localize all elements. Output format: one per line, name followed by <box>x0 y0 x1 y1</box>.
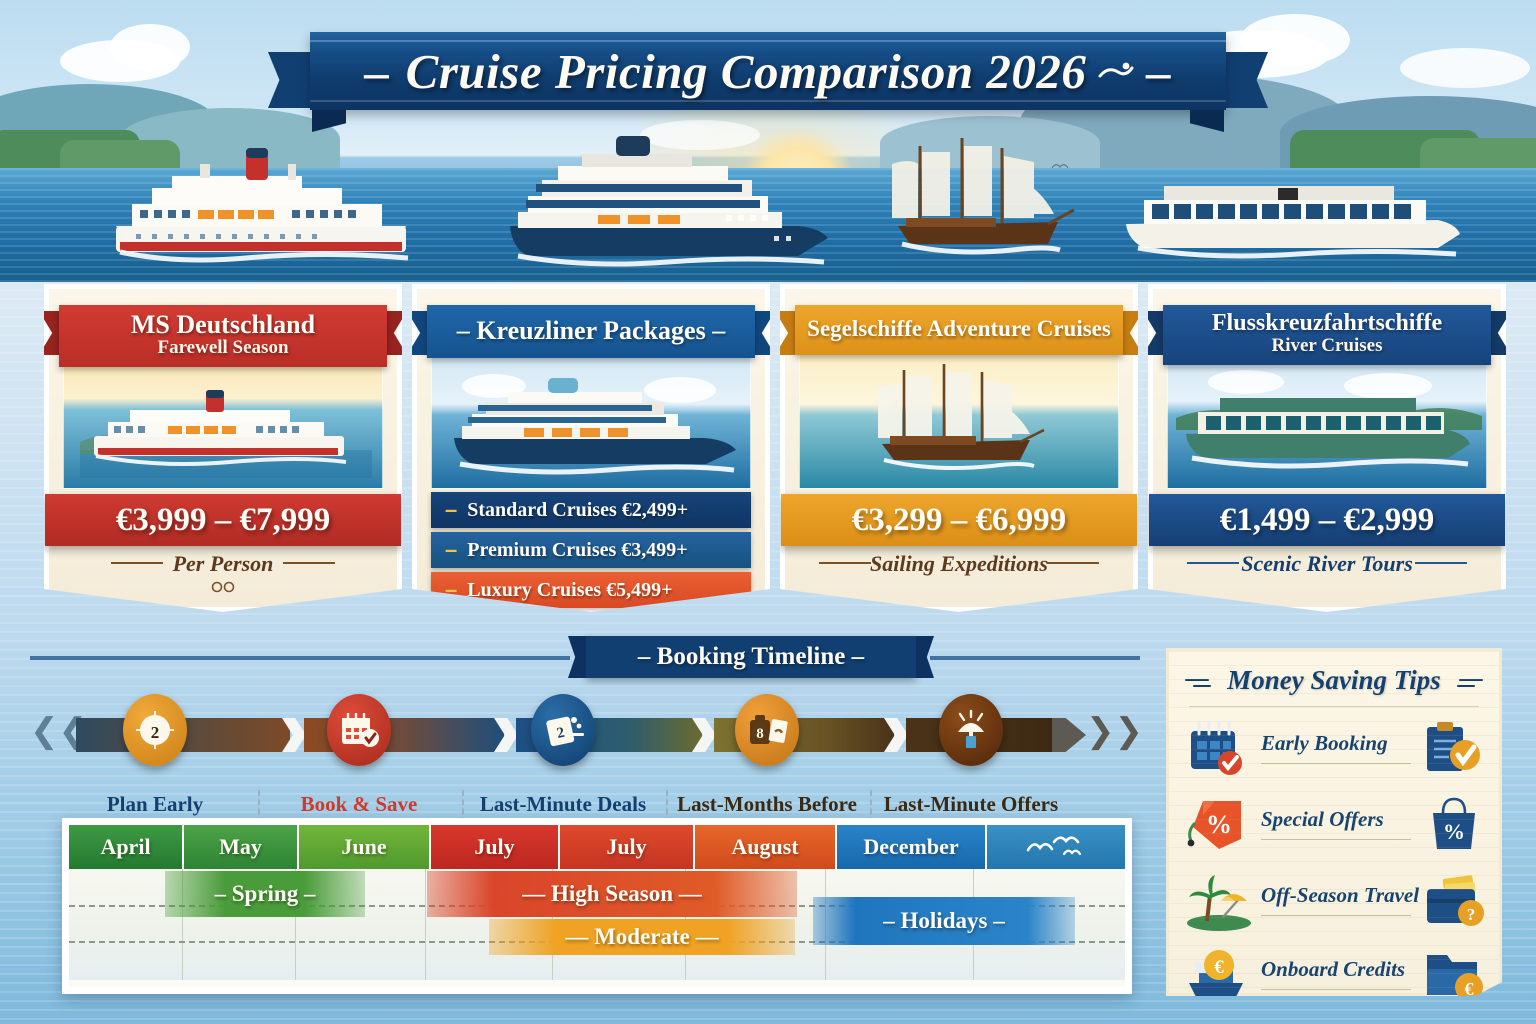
card-photo-kreuzliner <box>431 347 751 489</box>
svg-text:%: % <box>1206 810 1232 839</box>
ms-deutschland-ship <box>96 118 436 268</box>
calendar-month-april[interactable]: April <box>69 825 184 869</box>
card-footer-segelschiffe: Sailing Expeditions <box>785 551 1133 577</box>
card-title: Segelschiffe Adventure Cruises <box>799 317 1119 341</box>
card-subtitle: Farewell Season <box>69 338 377 359</box>
package-row-luxury[interactable]: – Luxury Cruises €5,499+ <box>431 572 751 608</box>
booking-timeline-badge: – Booking Timeline – <box>586 636 916 678</box>
calendar-check-icon <box>327 694 391 766</box>
price-text: €1,499 – €2,999 <box>1220 502 1435 539</box>
price-card-flusskreuzfahrtschiffe[interactable]: Flusskreuzfahrtschiffe River Cruises €1,… <box>1148 284 1506 612</box>
tip-row-off-season-travel[interactable]: Off-Season Travel ? <box>1183 867 1485 935</box>
speed-lines-icon <box>1182 676 1212 690</box>
double-chevron-right-icon: ❯❯ <box>1086 714 1130 754</box>
tips-title-text: Money Saving Tips <box>1227 665 1441 695</box>
tip-label: Early Booking <box>1261 731 1421 756</box>
svg-text:%: % <box>1443 819 1465 844</box>
shopping-bag-icon: % <box>1423 795 1485 853</box>
bullet-dash: – <box>445 577 457 603</box>
tip-label: Onboard Credits <box>1261 957 1421 982</box>
card-title: Flusskreuzfahrtschiffe <box>1173 311 1481 336</box>
card-subtitle: River Cruises <box>1173 336 1481 357</box>
package-row-premium[interactable]: – Premium Cruises €3,499+ <box>431 532 751 568</box>
price-band-ms-deutschland: €3,999 – €7,999 <box>45 494 401 546</box>
seasonal-calendar: April May June July July August December <box>62 818 1132 994</box>
discount-tag-icon: % <box>1185 793 1253 855</box>
ticket-tag-icon: 2 <box>531 694 595 766</box>
price-card-kreuzliner[interactable]: – Kreuzliner Packages – – Standard Cruis… <box>412 284 770 612</box>
speed-lines-icon <box>1456 676 1486 690</box>
timeline-step-last-minute-offers[interactable] <box>932 694 1010 788</box>
season-band-high-season: — High Season — <box>427 871 797 917</box>
anchor-wave-icon <box>1096 58 1136 84</box>
booking-timeline-heading: – Booking Timeline – <box>30 636 1140 680</box>
infographic-page: – Cruise Pricing Comparison 2026 – <box>0 0 1536 1024</box>
package-row-standard[interactable]: – Standard Cruises €2,499+ <box>431 492 751 528</box>
card-photo-ms-deutschland <box>63 347 383 489</box>
timeline-step-last-months-before[interactable]: 8 <box>728 694 806 788</box>
folder-euro-icon: € <box>1423 945 1485 1003</box>
season-band-moderate: — Moderate — <box>489 919 795 955</box>
package-label: Luxury Cruises €5,499+ <box>467 579 672 602</box>
clipboard-check-icon <box>1423 719 1485 777</box>
calendar-check-icon <box>1185 717 1253 779</box>
card-title: MS Deutschland <box>69 311 377 338</box>
ornament-icon <box>209 581 237 593</box>
timeline-step-plan-early[interactable]: 2 <box>116 694 194 788</box>
price-text: €3,299 – €6,999 <box>852 502 1067 539</box>
calendar-month-august[interactable]: August <box>695 825 837 869</box>
card-photo-river <box>1167 347 1487 489</box>
package-label: Standard Cruises €2,499+ <box>467 499 688 522</box>
seagulls-icon <box>1020 832 1092 862</box>
svg-text:8: 8 <box>756 726 764 742</box>
page-title: – Cruise Pricing Comparison 2026 – <box>310 32 1226 110</box>
card-title: – Kreuzliner Packages – <box>437 317 745 344</box>
package-label: Premium Cruises €3,499+ <box>467 539 687 562</box>
tip-row-special-offers[interactable]: % Special Offers % <box>1183 791 1485 859</box>
booking-timeline-label: – Booking Timeline – <box>638 643 864 671</box>
timeline-step-last-minute-deals[interactable]: 2 <box>524 694 602 788</box>
page-title-text: Cruise Pricing Comparison 2026 <box>406 43 1087 100</box>
euro-coin-ship-icon: € <box>1185 943 1253 1005</box>
calendar-month-december[interactable]: December <box>837 825 987 869</box>
timeline-step-book-and-save[interactable] <box>320 694 398 788</box>
season-band-spring: – Spring – <box>165 871 365 917</box>
season-band-holidays: – Holidays – <box>813 897 1075 945</box>
bullet-dash: – <box>445 537 457 563</box>
title-banner: – Cruise Pricing Comparison 2026 – <box>268 22 1268 118</box>
card-ribbon-river: Flusskreuzfahrtschiffe River Cruises <box>1143 305 1511 365</box>
card-footer-text: Per Person <box>173 551 274 576</box>
tip-label: Off-Season Travel <box>1261 883 1421 908</box>
calendar-header-row: April May June July July August December <box>69 825 1125 869</box>
tall-sailing-ship <box>862 118 1082 268</box>
tip-row-early-booking[interactable]: Early Booking <box>1183 715 1485 783</box>
card-footer-river: Scenic River Tours <box>1153 551 1501 577</box>
price-band-segelschiffe: €3,299 – €6,999 <box>781 494 1137 546</box>
luggage-tag-icon: 8 <box>735 694 799 766</box>
calendar-month-july-2[interactable]: July <box>560 825 695 869</box>
price-band-river: €1,499 – €2,999 <box>1149 494 1505 546</box>
bullet-dash: – <box>445 497 457 523</box>
modern-cruise-liner-ship <box>498 116 838 268</box>
beach-umbrella-icon <box>939 694 1003 766</box>
money-saving-tips-panel: Money Saving Tips Early Booking <box>1166 648 1502 996</box>
price-card-row: MS Deutschland Farewell Season €3,999 – … <box>0 284 1536 604</box>
card-ribbon-kreuzliner: – Kreuzliner Packages – <box>407 305 775 358</box>
tips-title: Money Saving Tips <box>1169 665 1499 696</box>
card-ribbon-segelschiffe: Segelschiffe Adventure Cruises <box>775 305 1143 357</box>
price-text: €3,999 – €7,999 <box>116 502 331 539</box>
card-footer-text: Sailing Expeditions <box>870 551 1048 576</box>
price-card-segelschiffe[interactable]: Segelschiffe Adventure Cruises €3,299 – … <box>780 284 1138 612</box>
calendar-month-june[interactable]: June <box>299 825 431 869</box>
river-cruise-boat <box>1118 150 1468 270</box>
svg-text:2: 2 <box>151 723 160 742</box>
calendar-body: – Spring – — High Season — — Moderate — … <box>69 869 1125 980</box>
card-photo-segelschiffe <box>799 347 1119 489</box>
booking-timeline: ❮❮ ❯❯ 2 <box>30 694 1140 812</box>
calendar-month-july-1[interactable]: July <box>431 825 560 869</box>
timeline-label-last-minute-offers: Last-Minute Offers <box>851 792 1091 820</box>
palm-beach-icon <box>1185 869 1253 931</box>
price-card-ms-deutschland[interactable]: MS Deutschland Farewell Season €3,999 – … <box>44 284 402 612</box>
svg-text:€: € <box>1214 957 1224 978</box>
wallet-cards-icon: ? <box>1423 871 1485 929</box>
card-footer-text: Scenic River Tours <box>1241 551 1413 576</box>
calendar-month-may[interactable]: May <box>184 825 299 869</box>
clock-coin-icon: 2 <box>123 694 187 766</box>
title-bar: – Cruise Pricing Comparison 2026 – <box>310 32 1226 110</box>
calendar-seagulls-cell[interactable] <box>987 825 1125 869</box>
card-footer-ms-deutschland: Per Person <box>49 551 397 577</box>
svg-text:?: ? <box>1467 905 1476 924</box>
card-ribbon-ms-deutschland: MS Deutschland Farewell Season <box>39 305 407 367</box>
tip-label: Special Offers <box>1261 807 1421 832</box>
double-chevron-left-icon: ❮❮ <box>30 714 66 754</box>
